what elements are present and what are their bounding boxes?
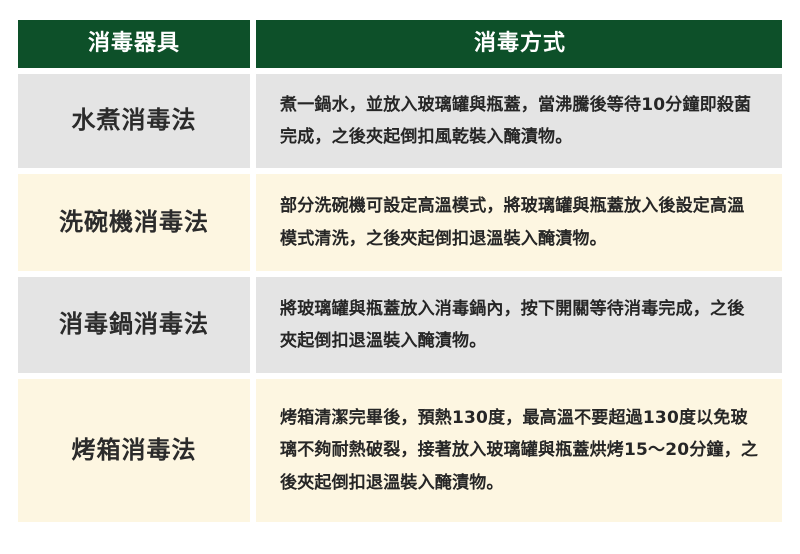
table-header-label-device: 消毒器具: [88, 20, 180, 68]
method-description: 部分洗碗機可設定高溫模式，將玻璃罐與瓶蓋放入後設定高溫模式清洗，之後夾起倒扣退溫…: [280, 190, 760, 255]
table-row: 水煮消毒法 煮一鍋水，並放入玻璃罐與瓶蓋，當沸騰後等待10分鐘即殺菌完成，之後夾…: [18, 74, 782, 168]
table-cell-device: 烤箱消毒法: [18, 379, 250, 522]
table-cell-method: 烤箱清潔完畢後，預熱130度，最高溫不要超過130度以免玻璃不夠耐熱破裂，接著放…: [256, 379, 782, 522]
sterilization-methods-table: 消毒器具 消毒方式 水煮消毒法 煮一鍋水，並放入玻璃罐與瓶蓋，當沸騰後等待10分…: [18, 20, 782, 522]
device-name: 烤箱消毒法: [72, 434, 197, 468]
table-header-cell-method: 消毒方式: [256, 20, 782, 68]
device-name: 消毒鍋消毒法: [59, 308, 209, 342]
table-cell-method: 將玻璃罐與瓶蓋放入消毒鍋內，按下開關等待消毒完成，之後夾起倒扣退溫裝入醃漬物。: [256, 277, 782, 373]
table-cell-method: 部分洗碗機可設定高溫模式，將玻璃罐與瓶蓋放入後設定高溫模式清洗，之後夾起倒扣退溫…: [256, 174, 782, 271]
device-name: 水煮消毒法: [72, 104, 197, 138]
method-description: 煮一鍋水，並放入玻璃罐與瓶蓋，當沸騰後等待10分鐘即殺菌完成，之後夾起倒扣風乾裝…: [280, 89, 760, 154]
table-row: 烤箱消毒法 烤箱清潔完畢後，預熱130度，最高溫不要超過130度以免玻璃不夠耐熱…: [18, 379, 782, 522]
table-cell-method: 煮一鍋水，並放入玻璃罐與瓶蓋，當沸騰後等待10分鐘即殺菌完成，之後夾起倒扣風乾裝…: [256, 74, 782, 168]
method-description: 將玻璃罐與瓶蓋放入消毒鍋內，按下開關等待消毒完成，之後夾起倒扣退溫裝入醃漬物。: [280, 293, 760, 358]
table-header-cell-device: 消毒器具: [18, 20, 250, 68]
table-header-row: 消毒器具 消毒方式: [18, 20, 782, 68]
method-description: 烤箱清潔完畢後，預熱130度，最高溫不要超過130度以免玻璃不夠耐熱破裂，接著放…: [280, 402, 760, 499]
table-cell-device: 消毒鍋消毒法: [18, 277, 250, 373]
table-row: 洗碗機消毒法 部分洗碗機可設定高溫模式，將玻璃罐與瓶蓋放入後設定高溫模式清洗，之…: [18, 174, 782, 271]
table-header-label-method: 消毒方式: [474, 20, 566, 68]
table-cell-device: 洗碗機消毒法: [18, 174, 250, 271]
sterilization-methods-table-wrapper: 消毒器具 消毒方式 水煮消毒法 煮一鍋水，並放入玻璃罐與瓶蓋，當沸騰後等待10分…: [18, 20, 782, 522]
table-row: 消毒鍋消毒法 將玻璃罐與瓶蓋放入消毒鍋內，按下開關等待消毒完成，之後夾起倒扣退溫…: [18, 277, 782, 373]
device-name: 洗碗機消毒法: [59, 206, 209, 240]
table-cell-device: 水煮消毒法: [18, 74, 250, 168]
